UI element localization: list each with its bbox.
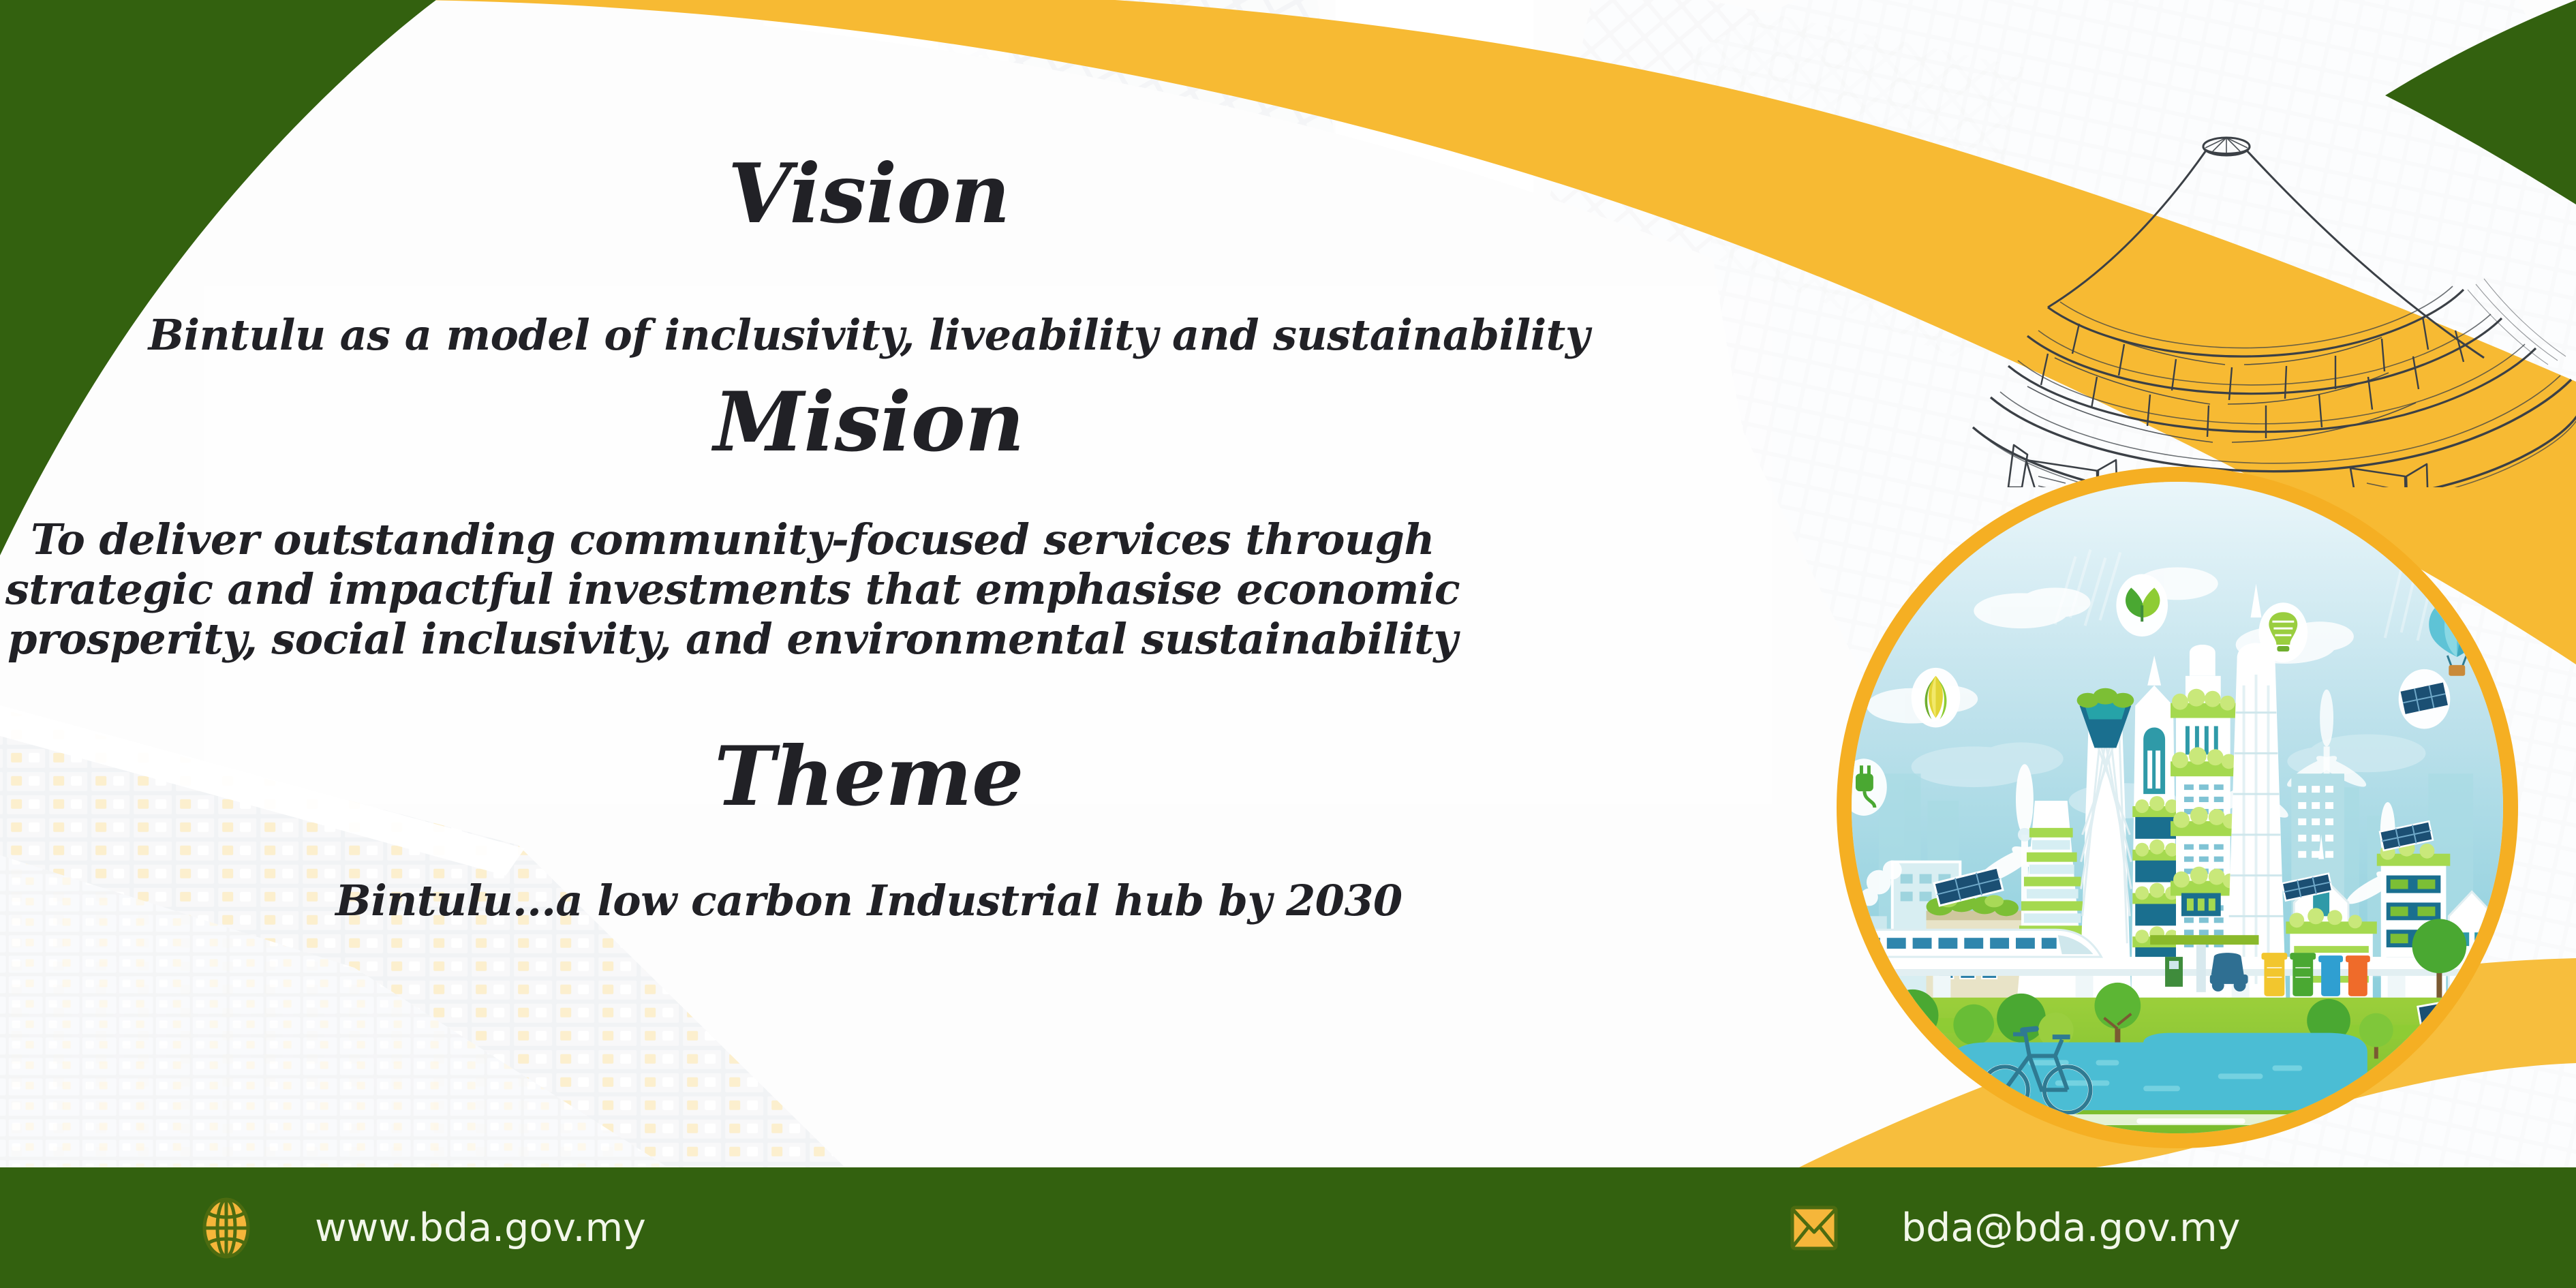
theme-heading: Theme — [0, 736, 1799, 818]
mission-heading: Mision — [0, 382, 1799, 463]
eco-city-illustration — [1837, 467, 2518, 1148]
text-content: Vision Bintulu as a model of inclusivity… — [0, 0, 1860, 1167]
globe-icon — [198, 1195, 255, 1261]
theme-body: Bintulu...a low carbon Industrial hub by… — [0, 876, 1799, 925]
landmark-dome-illustration — [1946, 119, 2576, 487]
email-label: bda@bda.gov.my — [1901, 1206, 2240, 1251]
vision-heading: Vision — [0, 153, 1799, 235]
badge-bulb — [2259, 602, 2308, 662]
globe-icon-svg — [198, 1195, 255, 1261]
badge-corn — [1912, 668, 1961, 728]
vision-body: Bintulu as a model of inclusivity, livea… — [0, 310, 1799, 360]
dome-line-drawing — [1946, 119, 2576, 487]
footer-website[interactable]: www.bda.gov.my — [198, 1167, 646, 1288]
eco-city-artwork — [1852, 482, 2503, 1133]
badge-leaf — [2116, 574, 2168, 637]
badge-solar — [2399, 669, 2451, 729]
mission-body: To deliver outstanding community-focused… — [0, 515, 1527, 664]
footer-bar: www.bda.gov.my bda@bda.gov.my — [0, 1167, 2576, 1288]
website-label: www.bda.gov.my — [315, 1206, 646, 1251]
banner-canvas: Vision Bintulu as a model of inclusivity… — [0, 0, 2576, 1288]
train — [1852, 930, 2101, 957]
envelope-icon-svg — [1785, 1195, 1843, 1261]
envelope-icon — [1785, 1195, 1843, 1261]
footer-email[interactable]: bda@bda.gov.my — [1785, 1167, 2240, 1288]
